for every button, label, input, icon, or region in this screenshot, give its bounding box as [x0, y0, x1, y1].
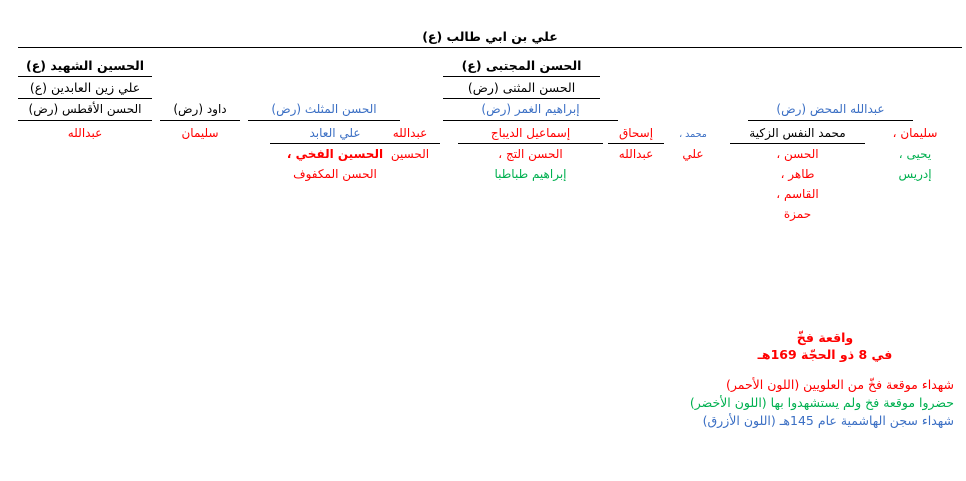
branch-abdullah-sub-title: عبدالله [380, 127, 440, 144]
branch-sulayman-title: سليمان ، [876, 127, 954, 141]
root-node-ali: علي بن ابي طالب (ع) [18, 30, 962, 48]
legend-entry-blue: شهداء سجن الهاشمية عام 145هـ (اللون الأز… [596, 412, 954, 430]
branch-ismail-dibaj-child-1: إبراهيم طباطبا [458, 168, 603, 182]
branch-sulayman-child-1: إدريس [876, 168, 954, 182]
legend-title-line2: في 8 ذو الحجّة 169هـ [700, 347, 950, 364]
branch-abdullah-mahd-title: عبدالله المحض (رض) [748, 103, 913, 121]
branch-hasan-mujtaba-level2: الحسن المثنى (رض) [443, 81, 600, 99]
branch-husayn-level2: علي زين العابدين (ع) [18, 81, 152, 99]
branch-nafs-zakiyya-title: محمد النفس الزكية [730, 127, 865, 144]
genealogy-chart: علي بن ابي طالب (ع) الحسين الشهيد (ع) عل… [0, 0, 966, 481]
branch-nafs-zakiyya-child-0: الحسن ، [730, 148, 865, 162]
branch-dawud-title: داود (رض) [160, 103, 240, 121]
legend-entry-red: شهداء موقعة فخّ من العلويين (اللون الأحم… [596, 376, 954, 394]
branch-ibrahim-ghamr-title: إبراهيم الغمر (رض) [443, 103, 618, 121]
branch-muhammad-title: محمد ، [668, 130, 718, 141]
branch-husayn-child-0: عبدالله [18, 127, 152, 141]
legend-entries: شهداء موقعة فخّ من العلويين (اللون الأحم… [596, 376, 954, 430]
branch-ishaq-title: إسحاق [608, 127, 664, 144]
legend-title-line1: واقعة فخّ [700, 330, 950, 347]
branch-hasan-muthallath-child-2: الحسن المكفوف [270, 168, 400, 182]
branch-ishaq-child-0: عبدالله [608, 148, 664, 162]
branch-husayn-title: الحسين الشهيد (ع) [18, 59, 152, 77]
branch-dawud-child-0: سليمان [160, 127, 240, 141]
branch-ismail-dibaj-title: إسماعيل الديباج [458, 127, 603, 144]
branch-abdullah-sub-child-0: الحسين [380, 148, 440, 162]
branch-muhammad-child-0: علي [668, 148, 718, 162]
branch-husayn-level3: الحسن الأقطس (رض) [18, 103, 152, 121]
branch-ismail-dibaj-child-0: الحسن التج ، [458, 148, 603, 162]
branch-hasan-mujtaba-title: الحسن المجتبى (ع) [443, 59, 600, 77]
branch-sulayman-child-0: يحيى ، [876, 148, 954, 162]
branch-nafs-zakiyya-child-2: القاسم ، [730, 188, 865, 202]
legend-title: واقعة فخّ في 8 ذو الحجّة 169هـ [700, 330, 950, 364]
legend-entry-green: حضروا موقعة فخ ولم يستشهدوا بها (اللون ا… [596, 394, 954, 412]
branch-nafs-zakiyya-child-3: حمزة [730, 208, 865, 222]
branch-hasan-muthallath-title: الحسن المثلث (رض) [248, 103, 400, 121]
branch-nafs-zakiyya-child-1: طاهر ، [730, 168, 865, 182]
